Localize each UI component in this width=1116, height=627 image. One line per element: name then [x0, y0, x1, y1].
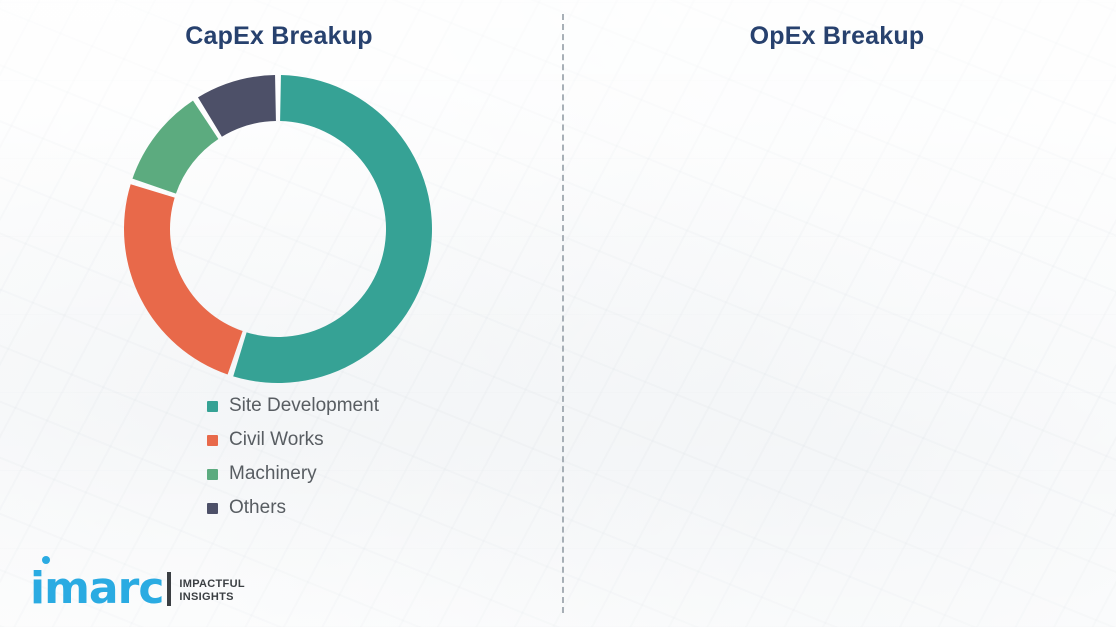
legend-item-label: Others [229, 497, 286, 519]
legend-swatch-icon [207, 503, 218, 514]
logo-tagline-line2: INSIGHTS [179, 591, 244, 604]
panel-divider [562, 14, 564, 613]
legend-swatch-icon [207, 469, 218, 480]
donut-slice[interactable] [124, 184, 243, 374]
legend-item[interactable]: Civil Works [207, 423, 379, 457]
capex-panel: CapEx Breakup Site DevelopmentCivil Work… [0, 0, 558, 627]
logo-tagline: IMPACTFUL INSIGHTS [179, 578, 244, 604]
donut-slice[interactable] [132, 101, 218, 194]
capex-chart-title: CapEx Breakup [0, 22, 558, 51]
logo-divider-bar [167, 572, 171, 606]
legend-item[interactable]: Machinery [207, 457, 379, 491]
opex-panel: OpEx Breakup Raw MaterialsSalaries and W… [558, 0, 1116, 627]
imarc-logo: imarc IMPACTFUL INSIGHTS [30, 569, 245, 609]
capex-donut-svg [123, 74, 433, 384]
capex-legend: Site DevelopmentCivil WorksMachineryOthe… [207, 389, 379, 525]
capex-donut-slices [124, 75, 432, 383]
legend-item-label: Site Development [229, 395, 379, 417]
legend-swatch-icon [207, 401, 218, 412]
legend-item[interactable]: Others [207, 491, 379, 525]
charts-container: CapEx Breakup Site DevelopmentCivil Work… [0, 0, 1116, 627]
capex-donut-chart [123, 74, 433, 384]
logo-wordmark: imarc [30, 569, 163, 609]
logo-dot-icon [42, 556, 50, 564]
logo-tagline-line1: IMPACTFUL [179, 578, 244, 591]
legend-item[interactable]: Site Development [207, 389, 379, 423]
slide-canvas: CapEx Breakup Site DevelopmentCivil Work… [0, 0, 1116, 627]
legend-swatch-icon [207, 435, 218, 446]
logo-wordmark-text: imarc [30, 563, 163, 614]
opex-chart-title: OpEx Breakup [558, 22, 1116, 51]
legend-item-label: Civil Works [229, 429, 324, 451]
legend-item-label: Machinery [229, 463, 317, 485]
